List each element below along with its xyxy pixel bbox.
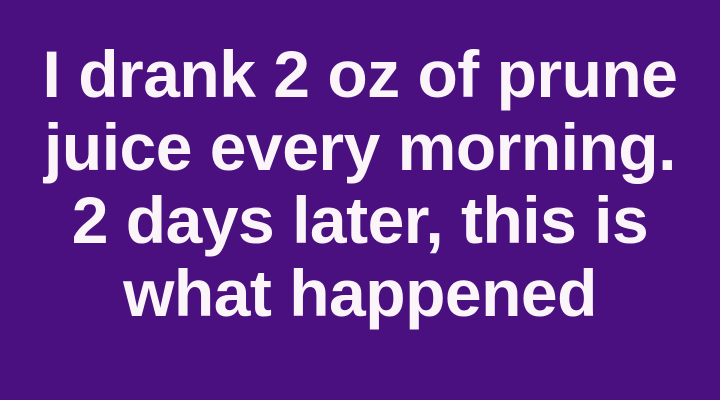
caption-block: I drank 2 oz of prune juice every mornin… <box>0 38 720 330</box>
caption-line-4: what happened <box>0 257 720 330</box>
caption-line-2: juice every morning. <box>0 111 720 184</box>
caption-line-1: I drank 2 oz of prune <box>0 38 720 111</box>
caption-line-3: 2 days later, this is <box>0 184 720 257</box>
meme-card: I drank 2 oz of prune juice every mornin… <box>0 0 720 400</box>
